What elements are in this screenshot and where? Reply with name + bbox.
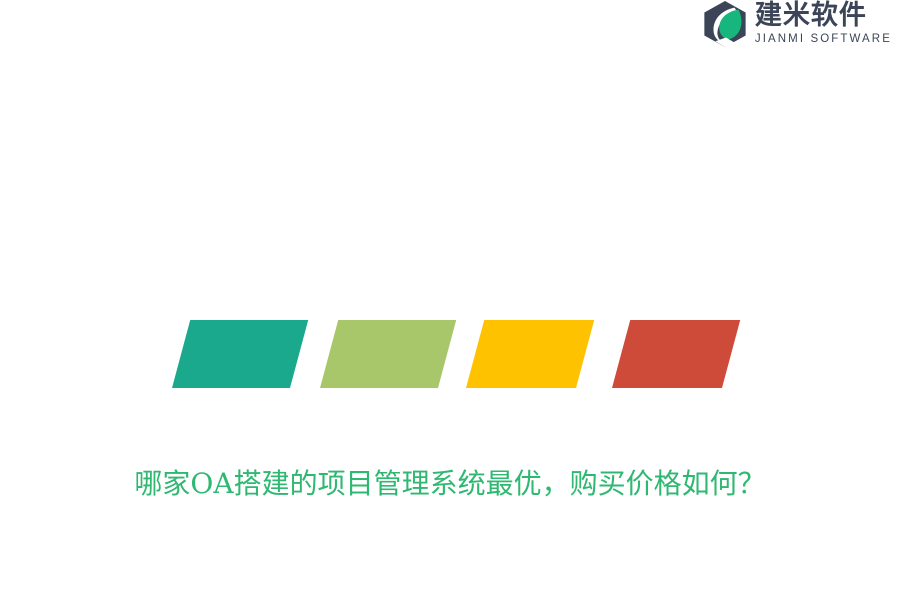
page-root: 建米软件 JIANMI SOFTWARE 哪家OA搭建的项目管理系统最优，购买价… (0, 0, 900, 600)
decorative-shape-band (0, 320, 900, 388)
brand-logo[interactable]: 建米软件 JIANMI SOFTWARE (701, 0, 892, 52)
brand-text-block: 建米软件 JIANMI SOFTWARE (755, 0, 892, 46)
jianmi-hexagon-leaf-logo-icon (701, 0, 749, 48)
page-title: 哪家OA搭建的项目管理系统最优，购买价格如何？ (0, 462, 900, 506)
teal-parallelogram (172, 320, 308, 388)
red-parallelogram (612, 320, 740, 388)
brand-subtitle: JIANMI SOFTWARE (755, 32, 892, 46)
light-green-parallelogram (320, 320, 456, 388)
brand-name: 建米软件 (755, 1, 892, 31)
yellow-parallelogram (466, 320, 594, 388)
